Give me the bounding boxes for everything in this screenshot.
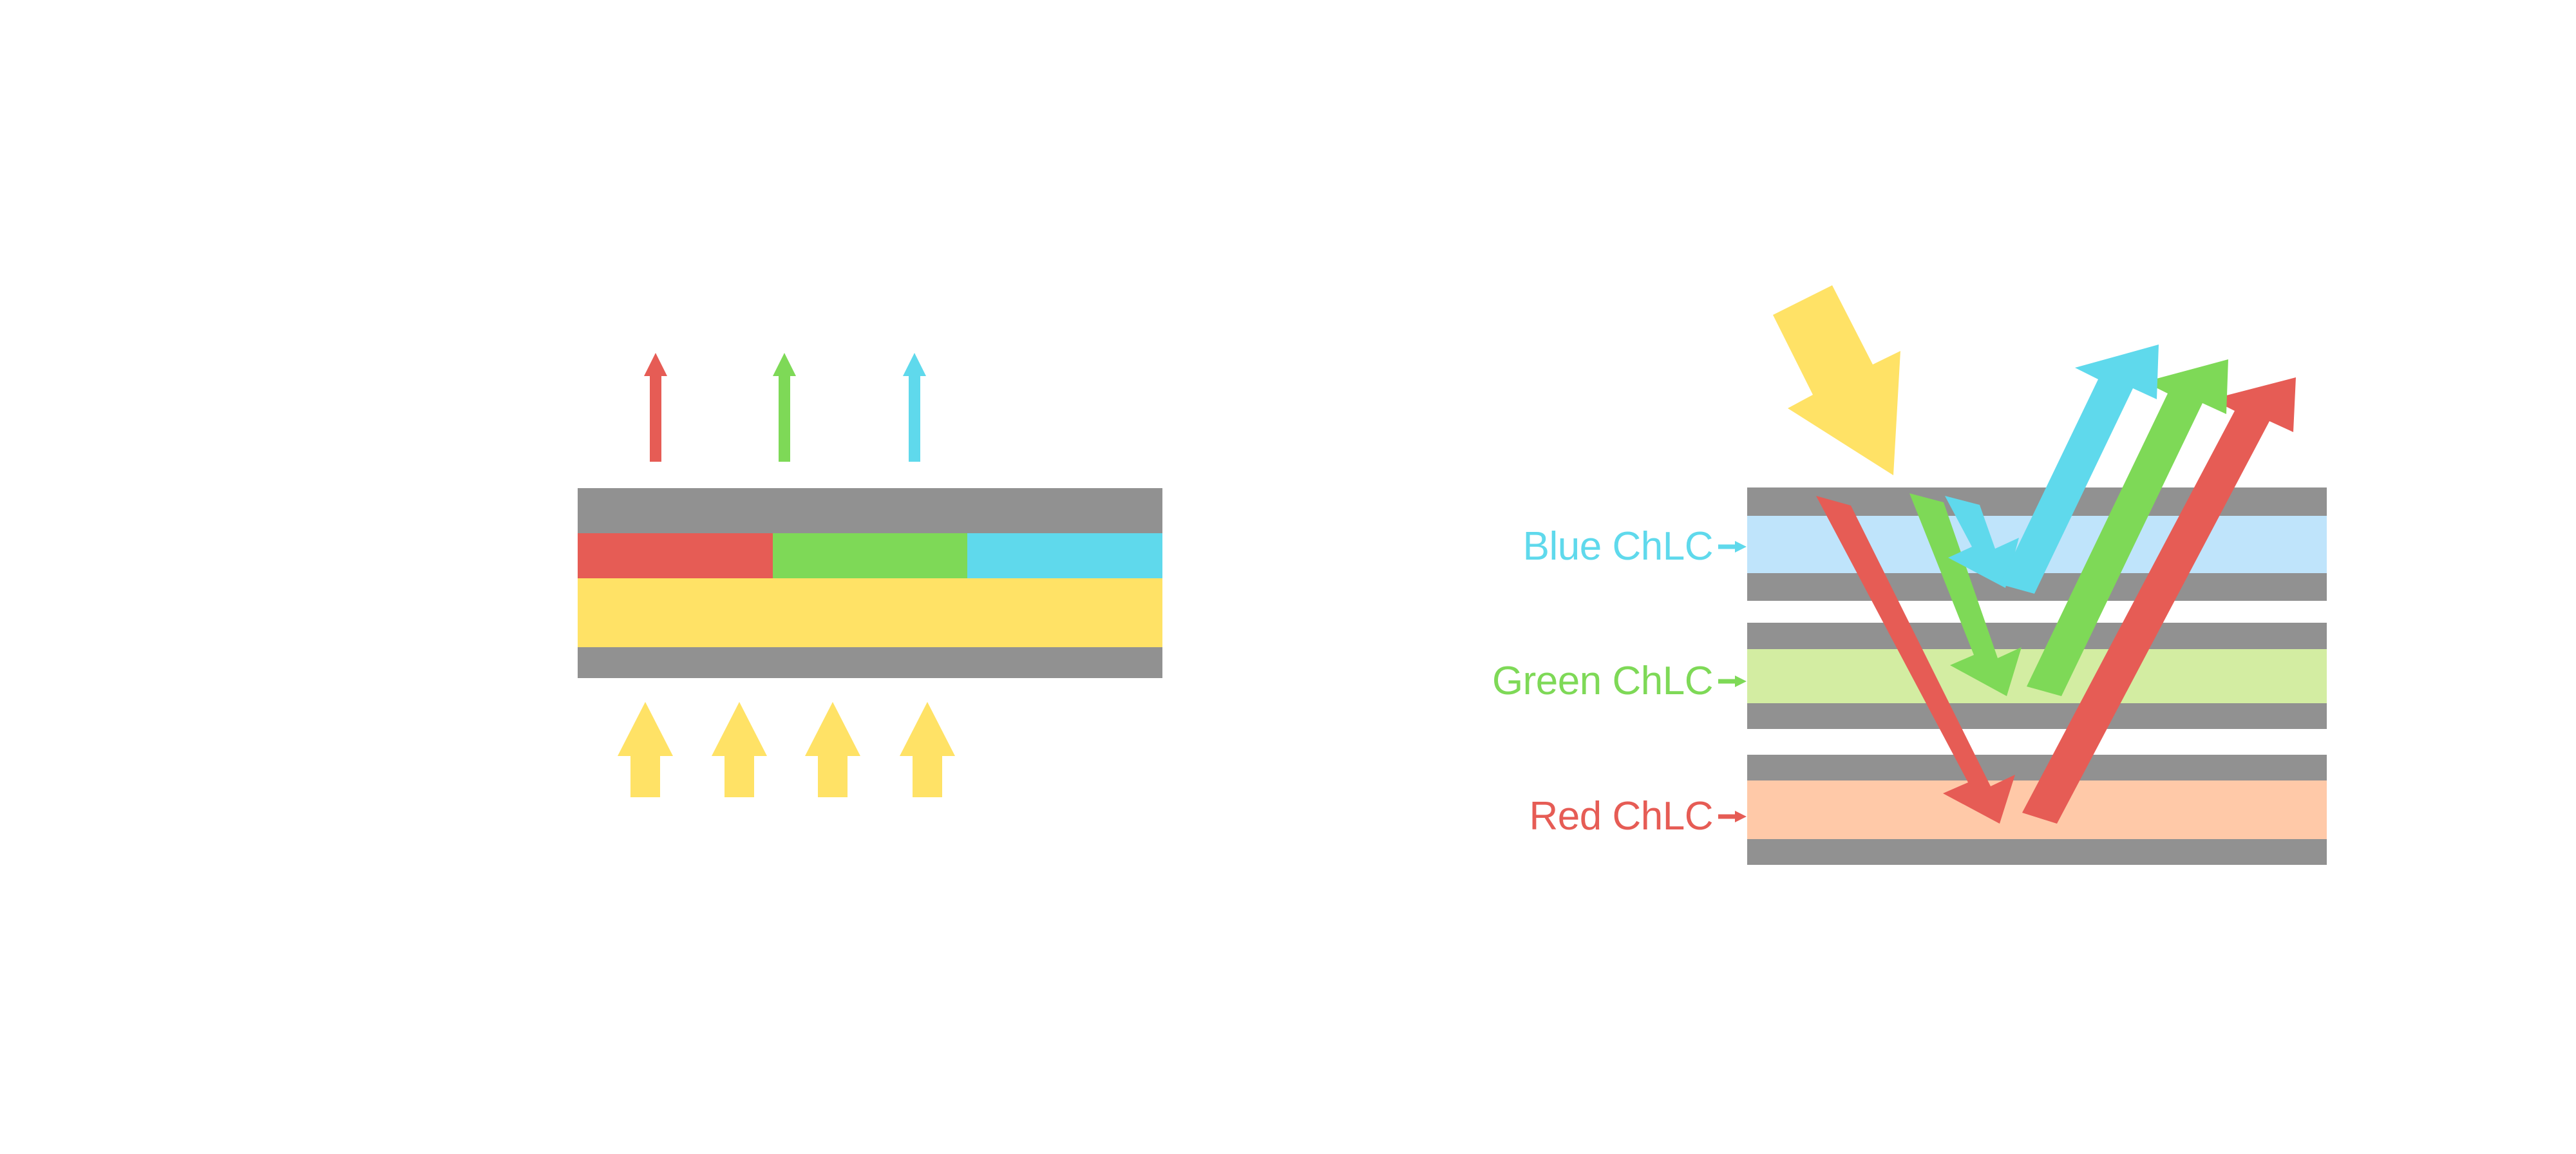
left-panel xyxy=(578,353,1162,797)
blue-filter-segment xyxy=(967,533,1162,578)
red-label-arrow-icon xyxy=(1718,811,1747,822)
green-filter-segment xyxy=(773,533,967,578)
chlc-labels-group: Blue ChLC Green ChLC Red ChLC xyxy=(1492,524,1747,838)
white-light-incident-arrow xyxy=(1773,285,1900,475)
green-chlc-label: Green ChLC xyxy=(1492,659,1713,703)
blue-label-arrow-icon xyxy=(1718,541,1747,553)
red-filter-segment xyxy=(578,533,773,578)
red-emitted-arrow xyxy=(644,353,667,462)
blue-emitted-arrow xyxy=(903,353,926,462)
left-top-electrode xyxy=(578,488,1162,533)
backlight-arrow-1 xyxy=(618,702,673,797)
left-stack xyxy=(578,488,1162,678)
backlight-arrows-group xyxy=(618,702,955,797)
figure-canvas: Blue ChLC Green ChLC Red ChLC xyxy=(0,0,2576,1154)
blue-chlc-label: Blue ChLC xyxy=(1523,524,1713,569)
red-cell-bottom-electrode xyxy=(1747,839,2327,865)
emitted-arrows-group xyxy=(644,353,926,462)
diagram-stage: Blue ChLC Green ChLC Red ChLC xyxy=(0,0,2576,1154)
green-cell-bottom-electrode xyxy=(1747,703,2327,729)
green-label-arrow-icon xyxy=(1718,676,1747,687)
backlight-arrow-2 xyxy=(712,702,767,797)
green-cell-top-electrode xyxy=(1747,623,2327,649)
left-bottom-electrode xyxy=(578,647,1162,678)
yellow-backlight-layer xyxy=(578,578,1162,647)
backlight-arrow-4 xyxy=(900,702,955,797)
green-emitted-arrow xyxy=(773,353,796,462)
right-panel: Blue ChLC Green ChLC Red ChLC xyxy=(1492,285,2327,865)
backlight-arrow-3 xyxy=(805,702,860,797)
red-cell-top-electrode xyxy=(1747,755,2327,780)
red-chlc-label: Red ChLC xyxy=(1529,794,1713,838)
